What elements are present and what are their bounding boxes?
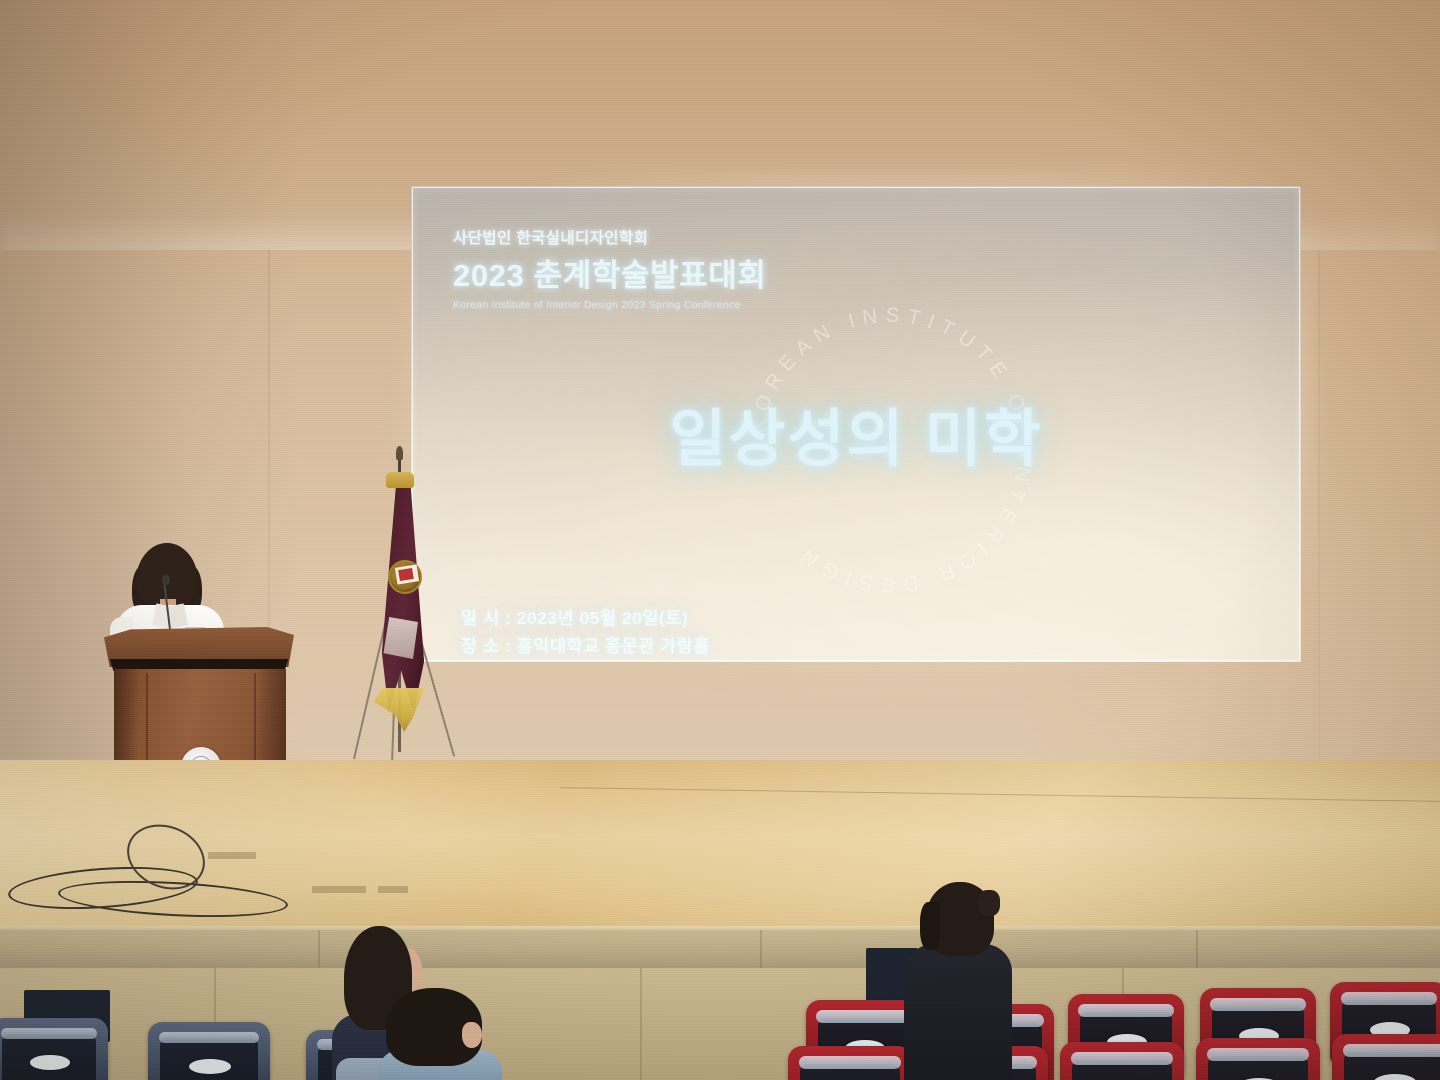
seat[interactable] [1332, 1034, 1440, 1080]
auditorium-scene: KOREAN INSTITUTE OF INTERIOR DESIGN 사단법인… [0, 0, 1440, 1080]
seat-number-plaque [30, 1055, 70, 1070]
audience-ear [462, 1022, 482, 1048]
seat-highlight [1078, 1004, 1173, 1017]
microphone-stem [163, 581, 171, 629]
audience-member-left-second [378, 988, 502, 1080]
audience-hair-tuft [920, 902, 940, 950]
audience-hair-tuft [978, 890, 1000, 916]
stage-floor-vent [208, 852, 256, 859]
ceremonial-flag [336, 452, 456, 782]
stage-front-seam [1196, 930, 1198, 972]
seat[interactable] [788, 1046, 912, 1080]
seat-highlight [1341, 992, 1438, 1005]
screen-border [412, 187, 1300, 661]
flag-emblem-red-mark [398, 568, 414, 581]
seat-number-plaque [189, 1059, 230, 1074]
seat-highlight [1071, 1052, 1173, 1065]
seat-highlight [799, 1056, 901, 1069]
seat-highlight [1, 1028, 98, 1040]
seat-highlight [1207, 1048, 1309, 1061]
stage-floor-vent [312, 886, 366, 893]
below-stage-seam [640, 968, 642, 1080]
seat[interactable] [0, 1018, 108, 1080]
seat-highlight [1210, 998, 1305, 1011]
seat-highlight [159, 1032, 259, 1044]
flag-gold-fringe [374, 688, 432, 734]
stage-front-seam [318, 930, 320, 972]
stage-floor [0, 760, 1440, 940]
seat[interactable] [1196, 1038, 1320, 1080]
flag-gold-cap [386, 472, 414, 488]
projection-screen: KOREAN INSTITUTE OF INTERIOR DESIGN 사단법인… [411, 186, 1301, 662]
stage-floor-vent [378, 886, 408, 893]
seat-highlight [1343, 1044, 1440, 1057]
seat[interactable] [1060, 1042, 1184, 1080]
audience-member-right-suited [898, 882, 1018, 1080]
stage-front-seam [760, 930, 762, 972]
flag-cloth [379, 482, 427, 712]
stage-front-face [0, 930, 1440, 972]
seat[interactable] [148, 1022, 270, 1080]
audience-suit [904, 944, 1012, 1080]
flag-finial-icon [396, 446, 403, 460]
microphone-head [162, 575, 170, 585]
